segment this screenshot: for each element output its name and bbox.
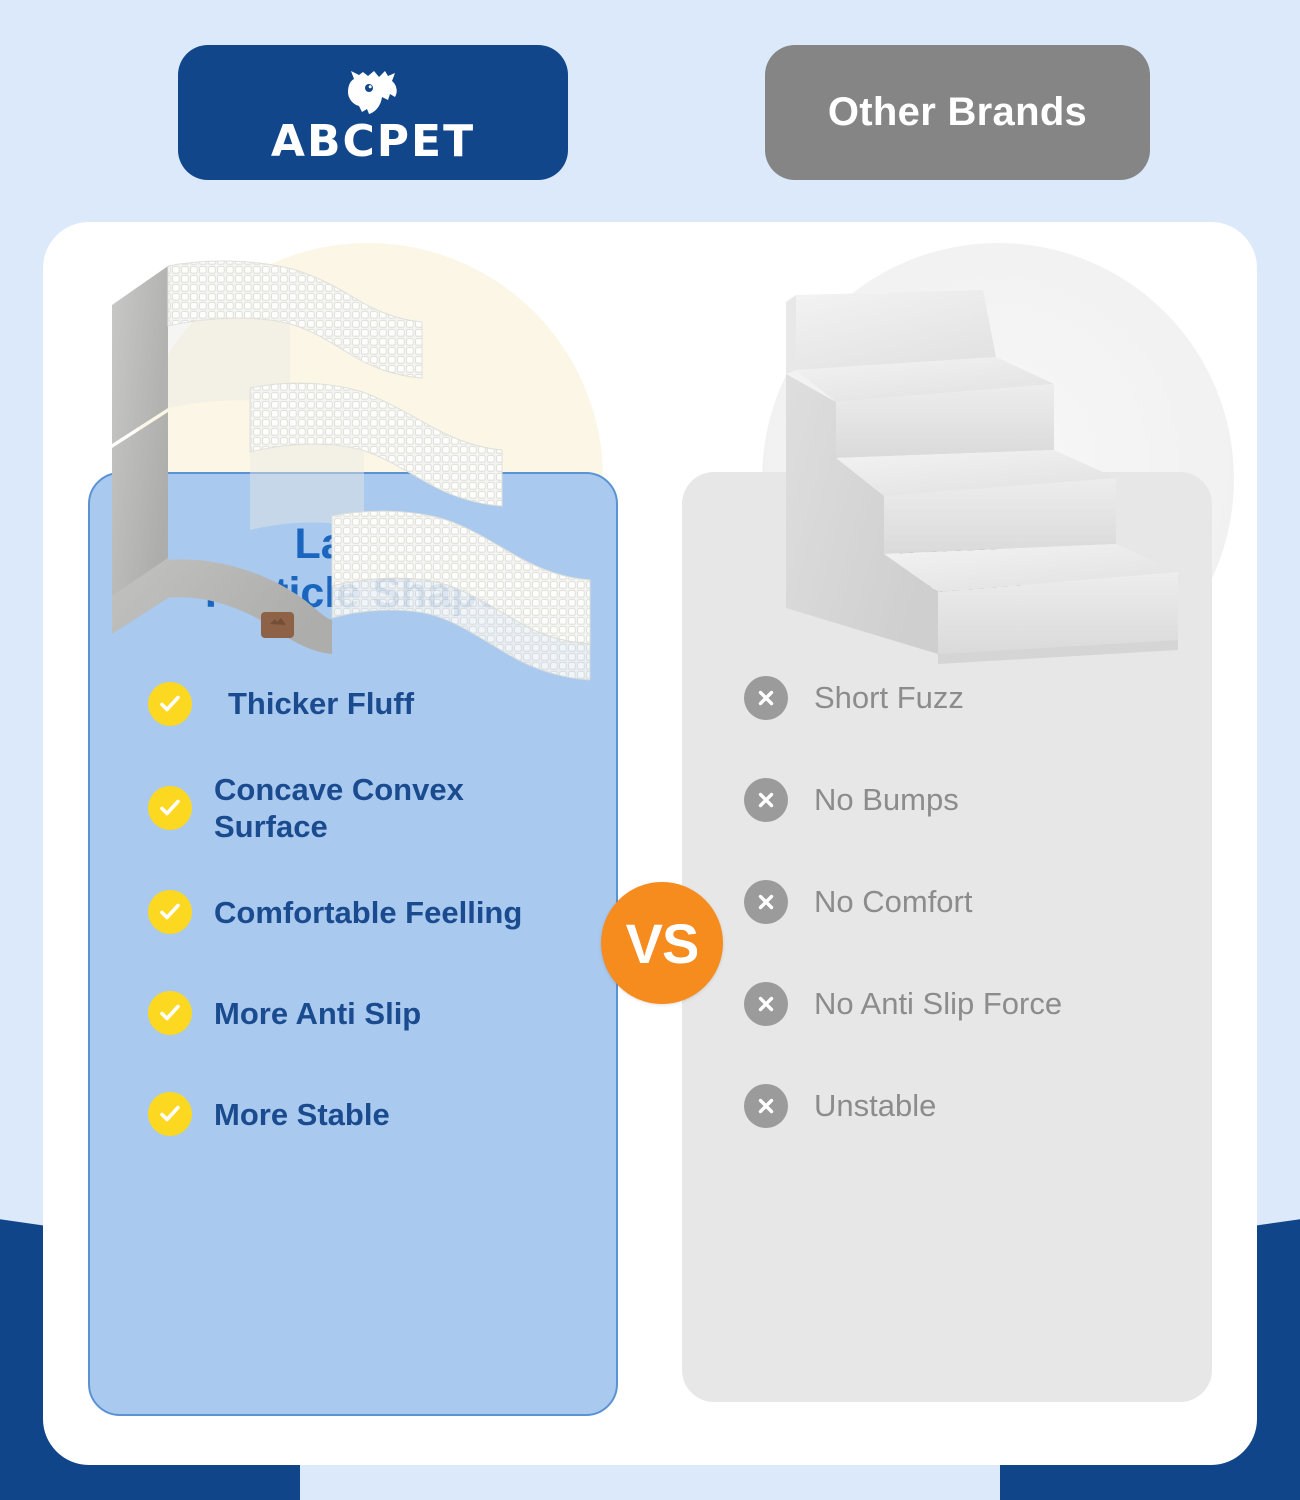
check-icon	[148, 786, 192, 830]
feature-item-comfortable-feelling: Comfortable Feelling	[148, 878, 594, 946]
feature-list-good: Thicker Fluff Concave Convex Surface Com…	[90, 670, 616, 1148]
check-icon	[148, 991, 192, 1035]
feature-label: Concave Convex Surface	[214, 771, 464, 845]
brand-leather-tag	[261, 612, 294, 638]
check-icon	[148, 890, 192, 934]
feature-label: No Bumps	[814, 781, 959, 818]
header-tabs: ABCPET Other Brands	[0, 45, 1300, 180]
feature-list-bad: Short Fuzz No Bumps No Comfort No Anti S…	[682, 664, 1212, 1140]
feature-item-unstable: Unstable	[744, 1072, 1190, 1140]
product-image-abcpet-stairs	[100, 248, 620, 708]
product-image-other-stairs	[758, 262, 1208, 702]
pet-head-icon	[338, 70, 408, 118]
feature-label: No Anti Slip Force	[814, 985, 1062, 1022]
tab-other-brands-label: Other Brands	[828, 90, 1087, 135]
feature-label: Unstable	[814, 1087, 936, 1124]
cross-icon	[744, 982, 788, 1026]
feature-item-no-bumps: No Bumps	[744, 766, 1190, 834]
feature-item-no-comfort: No Comfort	[744, 868, 1190, 936]
cross-icon	[744, 1084, 788, 1128]
tab-brand-abcpet[interactable]: ABCPET	[178, 45, 568, 180]
feature-label: No Comfort	[814, 883, 972, 920]
feature-label: More Stable	[214, 1096, 390, 1133]
feature-item-no-anti-slip-force: No Anti Slip Force	[744, 970, 1190, 1038]
comparison-infographic: ABCPET Other Brands	[0, 0, 1300, 1500]
feature-item-more-stable: More Stable	[148, 1080, 594, 1148]
feature-label: Comfortable Feelling	[214, 894, 522, 931]
vs-badge: VS	[601, 882, 723, 1004]
feature-item-more-anti-slip: More Anti Slip	[148, 979, 594, 1047]
feature-item-concave-convex-surface: Concave Convex Surface	[148, 771, 594, 845]
check-icon	[148, 1092, 192, 1136]
feature-label: More Anti Slip	[214, 995, 421, 1032]
cross-icon	[744, 778, 788, 822]
cross-icon	[744, 880, 788, 924]
tab-other-brands[interactable]: Other Brands	[765, 45, 1150, 180]
brand-wordmark: ABCPET	[271, 120, 475, 164]
